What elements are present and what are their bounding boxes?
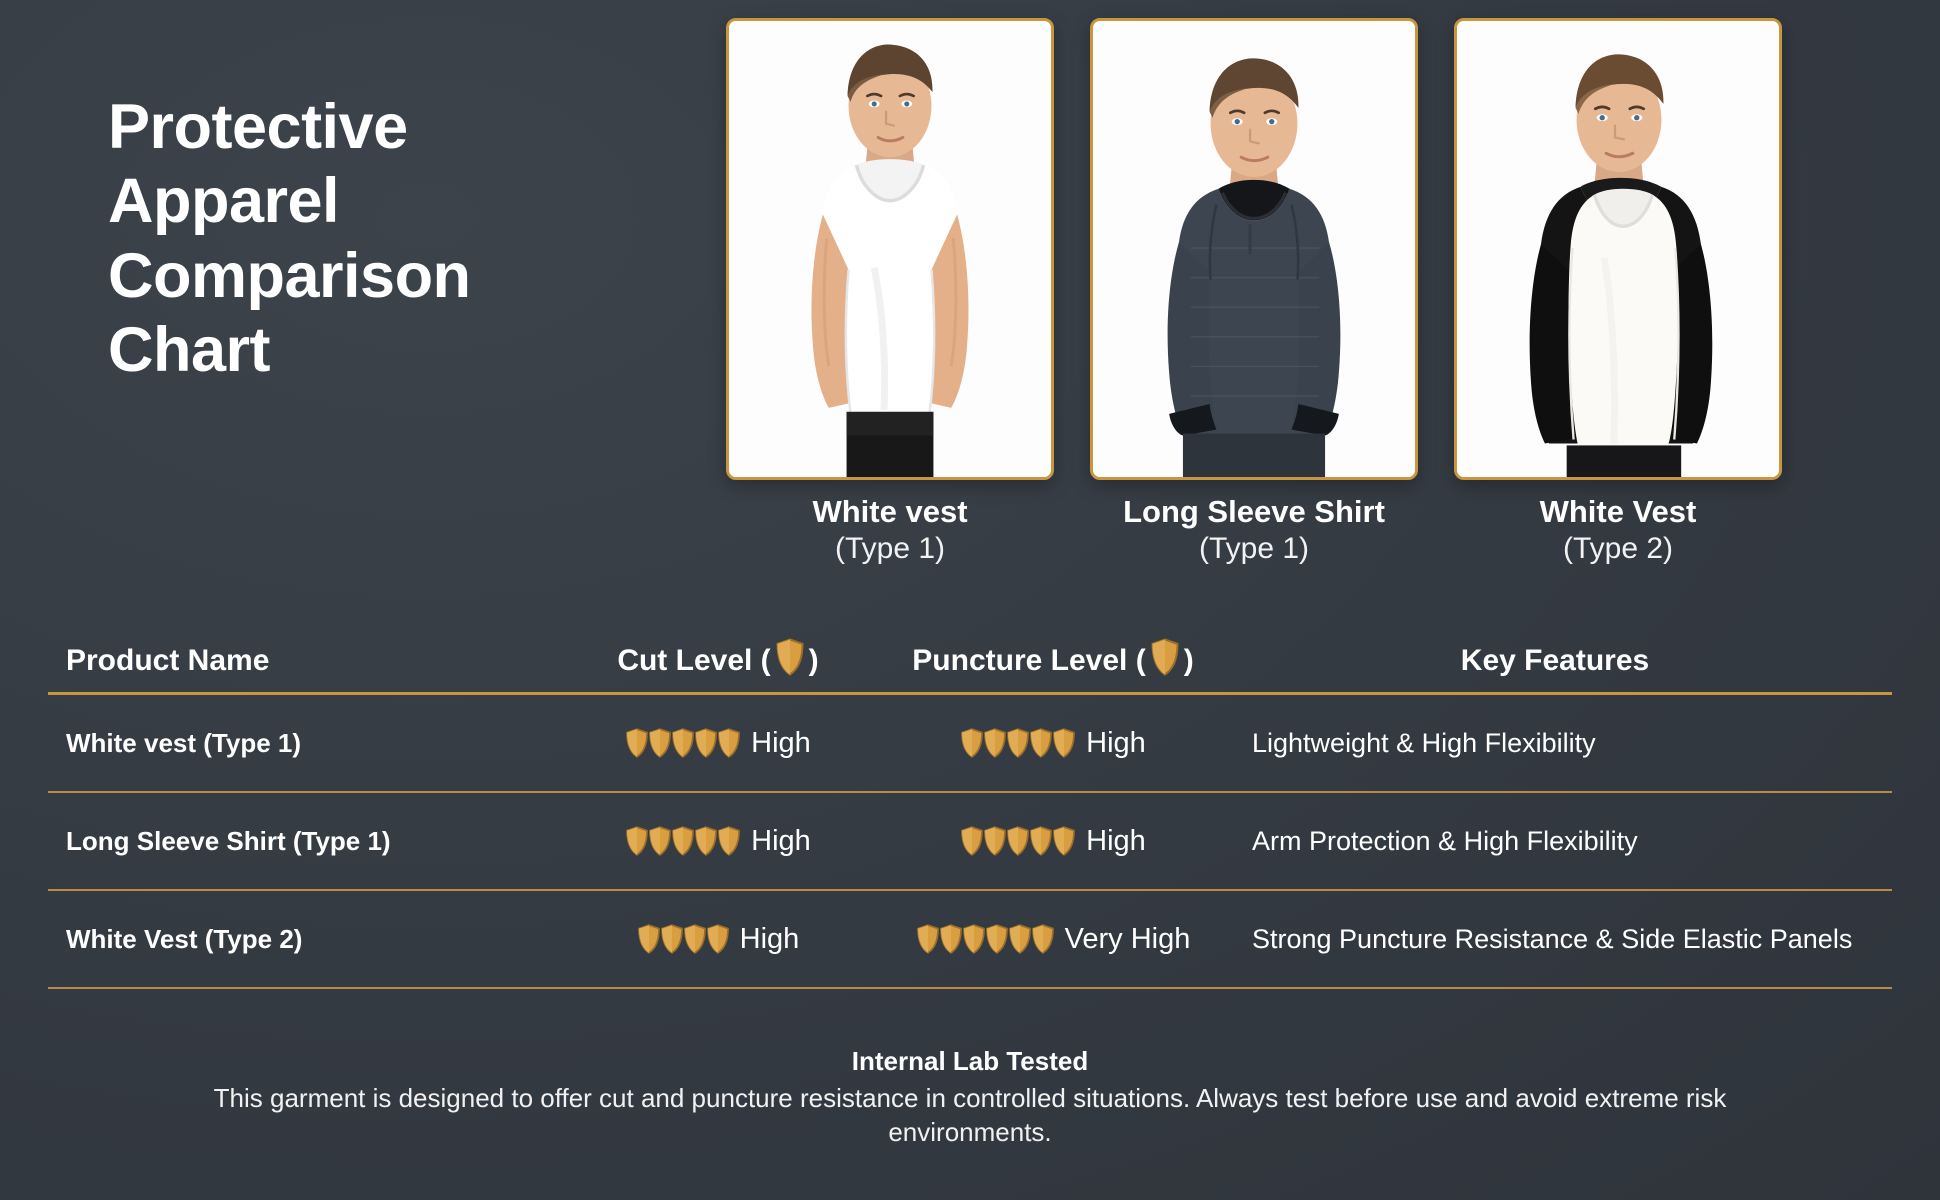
comparison-table: Product Name Cut Level ( ) Puncture Leve… bbox=[48, 630, 1892, 989]
cut-level-rating: High bbox=[637, 923, 800, 956]
product-caption-name-3: White Vest bbox=[1540, 494, 1697, 531]
product-caption-type-3: (Type 2) bbox=[1540, 531, 1697, 566]
product-photo-1 bbox=[726, 18, 1054, 480]
disclaimer-text: This garment is designed to offer cut an… bbox=[140, 1081, 1800, 1150]
column-header-key-features: Key Features bbox=[1228, 644, 1892, 678]
shield-meter bbox=[637, 923, 729, 955]
puncture-level-value: High bbox=[1086, 727, 1146, 760]
table-bottom-divider bbox=[48, 987, 1892, 989]
product-caption-name-2: Long Sleeve Shirt bbox=[1123, 494, 1385, 531]
row-product-name: White Vest (Type 2) bbox=[66, 924, 302, 954]
table-row[interactable]: White Vest (Type 2) High Very High Stron… bbox=[48, 891, 1892, 987]
product-card-white-vest-type-2[interactable]: White Vest (Type 2) bbox=[1454, 18, 1782, 566]
product-caption-1: White vest (Type 1) bbox=[812, 494, 967, 566]
row-product-name: Long Sleeve Shirt (Type 1) bbox=[66, 826, 391, 856]
product-photo-2 bbox=[1090, 18, 1418, 480]
product-card-row: White vest (Type 1) bbox=[726, 18, 1782, 566]
product-photo-3 bbox=[1454, 18, 1782, 480]
puncture-level-label: Puncture Level ( bbox=[912, 644, 1145, 678]
column-header-product-name: Product Name bbox=[48, 644, 558, 678]
column-header-cut-level: Cut Level ( ) bbox=[558, 638, 878, 684]
puncture-level-value: Very High bbox=[1065, 923, 1191, 956]
cut-level-label-close: ) bbox=[809, 644, 819, 678]
shield-meter bbox=[625, 727, 740, 759]
cut-level-value: High bbox=[751, 825, 811, 858]
shield-meter bbox=[916, 923, 1054, 955]
table-row[interactable]: Long Sleeve Shirt (Type 1) High High Arm… bbox=[48, 793, 1892, 889]
shield-meter bbox=[960, 825, 1075, 857]
table-header-row: Product Name Cut Level ( ) Puncture Leve… bbox=[48, 630, 1892, 692]
page-title: Protective Apparel Comparison Chart bbox=[108, 90, 628, 387]
footer: Internal Lab Tested This garment is desi… bbox=[0, 1046, 1940, 1150]
shield-icon bbox=[775, 638, 805, 684]
product-caption-type-1: (Type 1) bbox=[812, 531, 967, 566]
product-caption-3: White Vest (Type 2) bbox=[1540, 494, 1697, 566]
table-row[interactable]: White vest (Type 1) High High Lightweigh… bbox=[48, 695, 1892, 791]
poster-root: Protective Apparel Comparison Chart bbox=[0, 0, 1940, 1200]
product-caption-2: Long Sleeve Shirt (Type 1) bbox=[1123, 494, 1385, 566]
shield-icon bbox=[1150, 638, 1180, 684]
product-caption-name-1: White vest bbox=[812, 494, 967, 531]
puncture-level-value: High bbox=[1086, 825, 1146, 858]
product-card-long-sleeve-shirt-type-1[interactable]: Long Sleeve Shirt (Type 1) bbox=[1090, 18, 1418, 566]
puncture-level-label-close: ) bbox=[1184, 644, 1194, 678]
row-key-features: Lightweight & High Flexibility bbox=[1252, 728, 1596, 758]
lab-tested-badge: Internal Lab Tested bbox=[0, 1046, 1940, 1077]
puncture-level-rating: Very High bbox=[916, 923, 1191, 956]
cut-level-rating: High bbox=[625, 825, 811, 858]
cut-level-label: Cut Level ( bbox=[617, 644, 770, 678]
puncture-level-rating: High bbox=[960, 825, 1146, 858]
cut-level-value: High bbox=[751, 727, 811, 760]
column-header-puncture-level: Puncture Level ( ) bbox=[878, 638, 1228, 684]
shield-meter bbox=[625, 825, 740, 857]
row-key-features: Arm Protection & High Flexibility bbox=[1252, 826, 1638, 856]
cut-level-rating: High bbox=[625, 727, 811, 760]
hero-section: Protective Apparel Comparison Chart bbox=[0, 0, 1940, 600]
product-caption-type-2: (Type 1) bbox=[1123, 531, 1385, 566]
puncture-level-rating: High bbox=[960, 727, 1146, 760]
product-card-white-vest-type-1[interactable]: White vest (Type 1) bbox=[726, 18, 1054, 566]
row-key-features: Strong Puncture Resistance & Side Elasti… bbox=[1252, 924, 1852, 954]
cut-level-value: High bbox=[740, 923, 800, 956]
row-product-name: White vest (Type 1) bbox=[66, 728, 301, 758]
shield-meter bbox=[960, 727, 1075, 759]
